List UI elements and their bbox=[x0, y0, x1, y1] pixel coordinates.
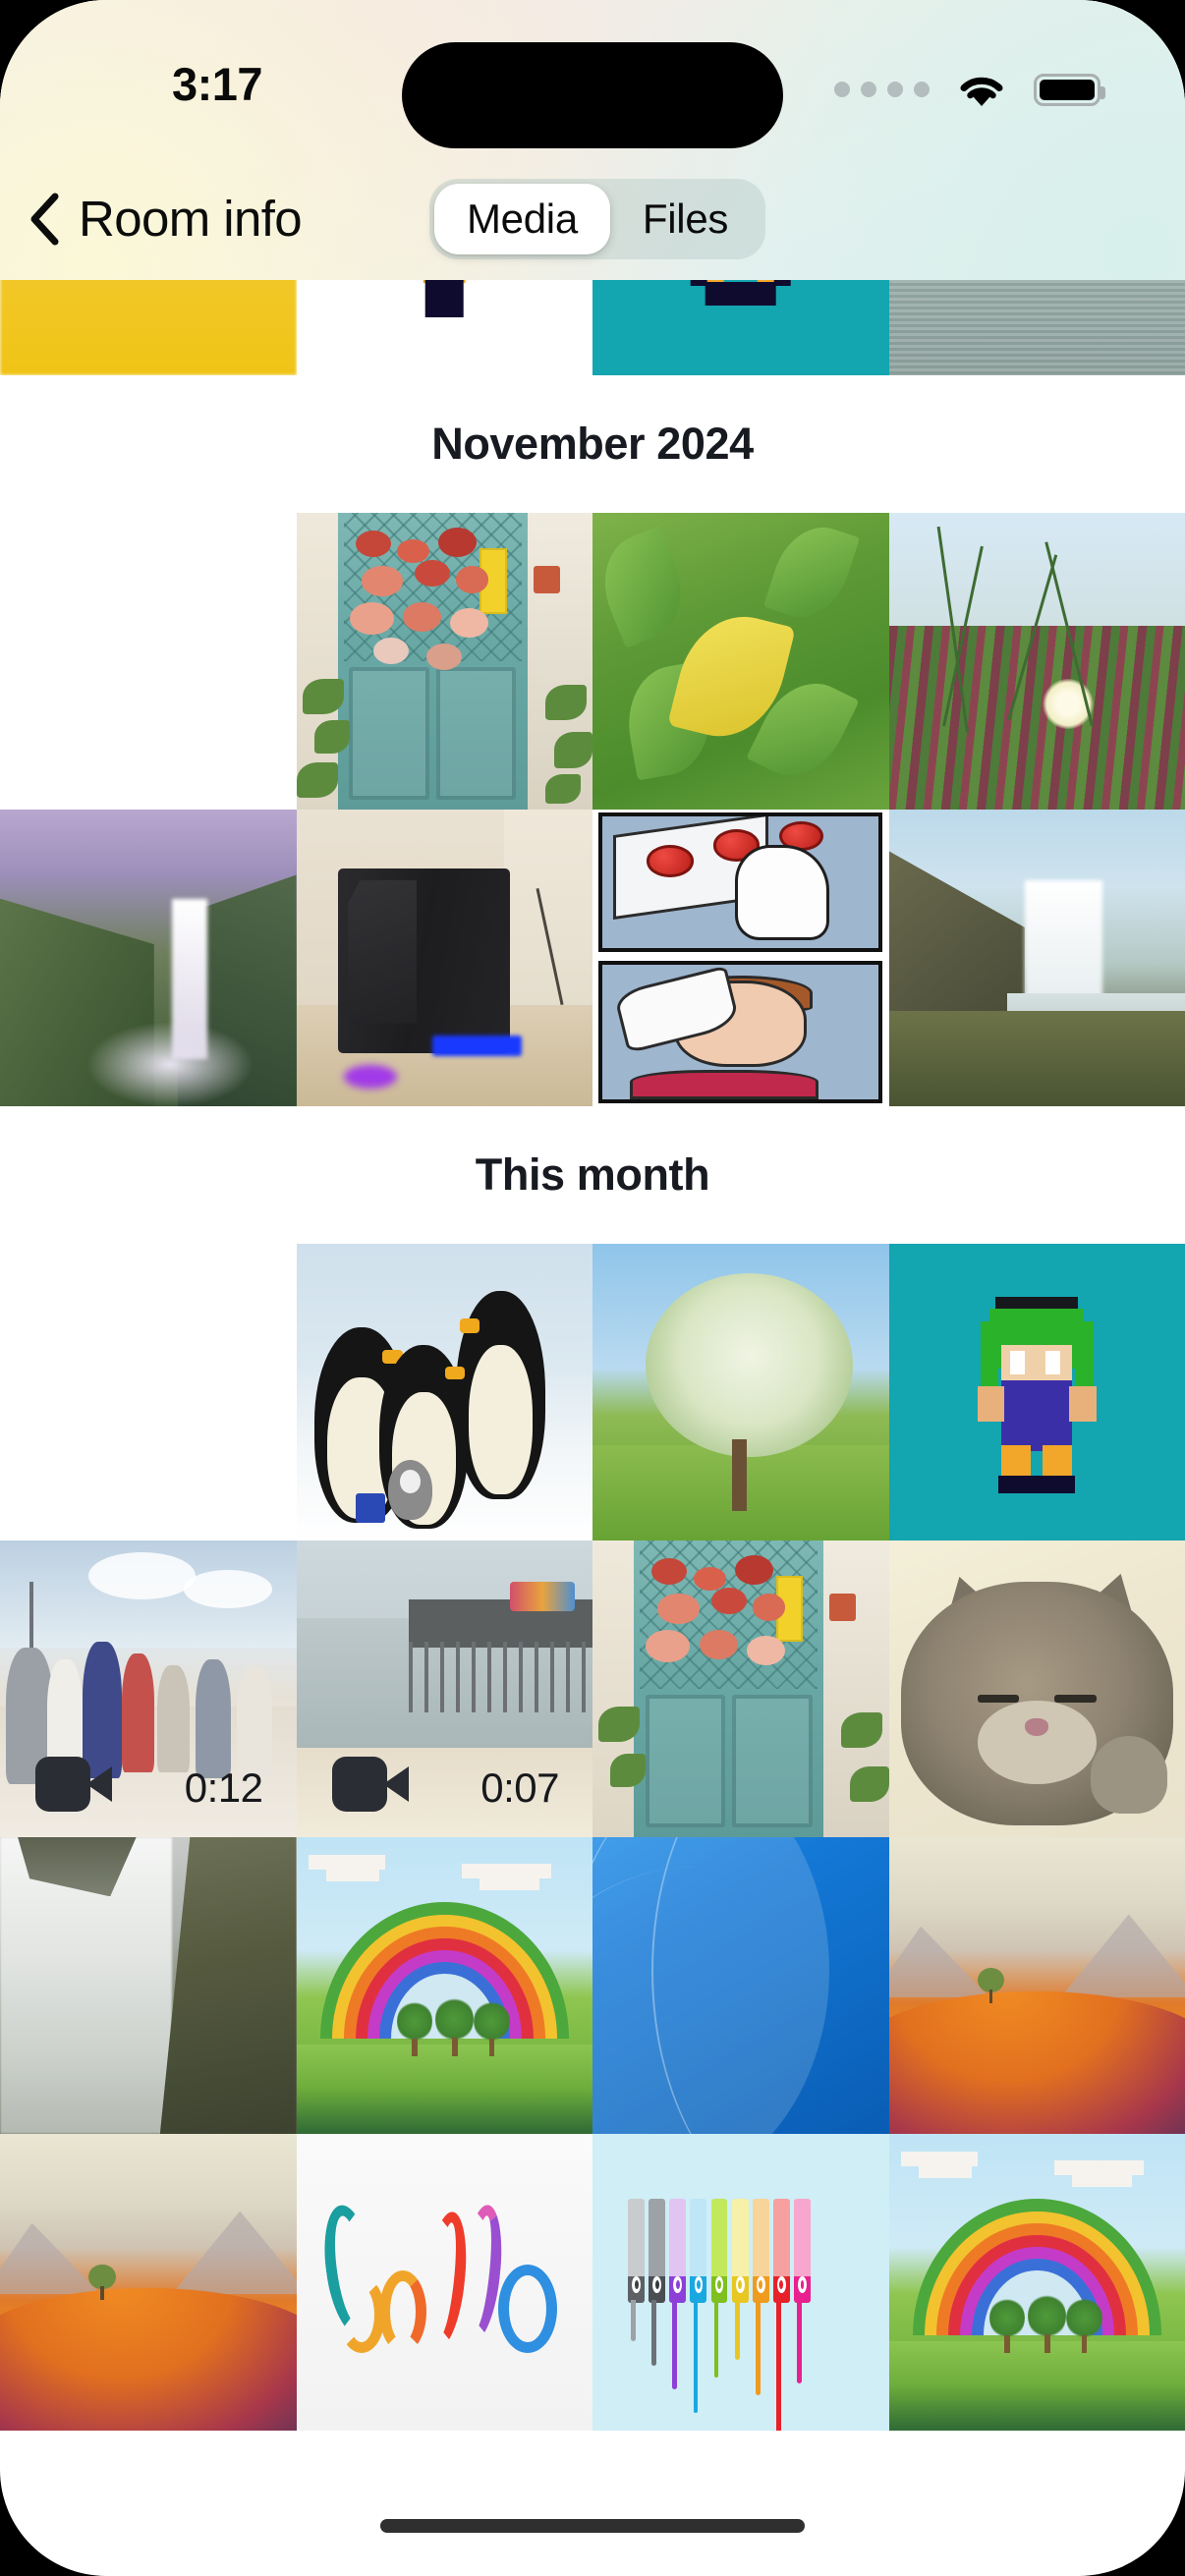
floral-teal-door-thumbnail[interactable] bbox=[297, 513, 593, 810]
wifi-icon bbox=[953, 69, 1010, 110]
top-bar: 3:17 bbox=[0, 0, 1185, 280]
orange-desert-tree-thumbnail[interactable] bbox=[889, 1837, 1185, 2134]
video-duration: 0:12 bbox=[185, 1764, 263, 1812]
chevron-left-icon bbox=[28, 192, 61, 247]
coastal-plants-thumbnail[interactable] bbox=[889, 513, 1185, 810]
dynamic-island bbox=[402, 42, 783, 148]
section-header-november: November 2024 bbox=[0, 375, 1185, 513]
media-grid-scroll-area[interactable]: November 2024 bbox=[0, 280, 1185, 2441]
back-button[interactable]: Room info bbox=[28, 190, 302, 248]
dripping-markers-thumbnail[interactable] bbox=[592, 2134, 889, 2431]
video-duration: 0:07 bbox=[480, 1764, 559, 1812]
crowd-street-video-thumbnail[interactable]: 0:12 bbox=[0, 1540, 297, 1837]
hello-lettering-thumbnail[interactable] bbox=[297, 2134, 593, 2431]
media-row bbox=[0, 513, 1185, 810]
waterfall-purple-sky-thumbnail[interactable] bbox=[0, 810, 297, 1106]
status-bar: 3:17 bbox=[0, 0, 1185, 157]
tab-files[interactable]: Files bbox=[610, 184, 761, 254]
pixel-rainbow-thumbnail[interactable] bbox=[297, 1837, 593, 2134]
section-header-label: November 2024 bbox=[431, 419, 754, 470]
section-header-this-month: This month bbox=[0, 1106, 1185, 1244]
page-title: Room info bbox=[79, 190, 302, 248]
battery-full-icon bbox=[1034, 74, 1100, 106]
pixel-sprite-teal-thumbnail[interactable] bbox=[592, 280, 889, 375]
media-row: 0:12 0:07 bbox=[0, 1540, 1185, 1837]
section-header-label: This month bbox=[476, 1149, 709, 1201]
blue-abstract-wallpaper-thumbnail[interactable] bbox=[592, 1837, 889, 2134]
green-hair-pixel-character-thumbnail[interactable] bbox=[889, 1244, 1185, 1540]
media-row bbox=[0, 2134, 1185, 2431]
sleeping-kitten-thumbnail[interactable] bbox=[889, 1540, 1185, 1837]
seaside-pier-video-thumbnail[interactable]: 0:07 bbox=[297, 1540, 593, 1837]
monochrome-waterfall-thumbnail[interactable] bbox=[0, 1837, 297, 2134]
status-time: 3:17 bbox=[172, 57, 262, 111]
phone-frame: 3:17 bbox=[0, 0, 1185, 2576]
media-files-segmented-control[interactable]: Media Files bbox=[429, 179, 765, 259]
cliff-waterfall-thumbnail[interactable] bbox=[889, 810, 1185, 1106]
video-camera-icon bbox=[35, 1757, 112, 1812]
river-canal-photo-thumbnail[interactable] bbox=[889, 280, 1185, 375]
sweating-button-meme-thumbnail[interactable] bbox=[592, 810, 889, 1106]
pixel-rainbow-thumbnail[interactable] bbox=[889, 2134, 1185, 2431]
blossom-tree-thumbnail[interactable] bbox=[592, 1244, 889, 1540]
emperor-penguins-thumbnail[interactable] bbox=[297, 1244, 593, 1540]
orange-desert-tree-thumbnail[interactable] bbox=[0, 2134, 297, 2431]
empty-cell bbox=[0, 1244, 297, 1540]
video-camera-icon bbox=[332, 1757, 409, 1812]
media-row bbox=[0, 1837, 1185, 2134]
green-leaves-thumbnail[interactable] bbox=[592, 513, 889, 810]
yellow-pixel-thumbnail[interactable] bbox=[0, 280, 297, 375]
navigation-bar: Room info Media Files bbox=[0, 157, 1185, 280]
tab-media[interactable]: Media bbox=[434, 184, 610, 254]
cellular-dots-icon bbox=[834, 82, 930, 97]
media-row bbox=[0, 810, 1185, 1106]
black-pc-tower-thumbnail[interactable] bbox=[297, 810, 593, 1106]
empty-cell bbox=[0, 513, 297, 810]
home-indicator[interactable] bbox=[380, 2519, 805, 2533]
media-row bbox=[0, 280, 1185, 375]
status-indicators bbox=[834, 69, 1100, 110]
floral-teal-door-thumbnail[interactable] bbox=[592, 1540, 889, 1837]
media-row bbox=[0, 1244, 1185, 1540]
pixel-sprite-white-thumbnail[interactable] bbox=[297, 280, 593, 375]
